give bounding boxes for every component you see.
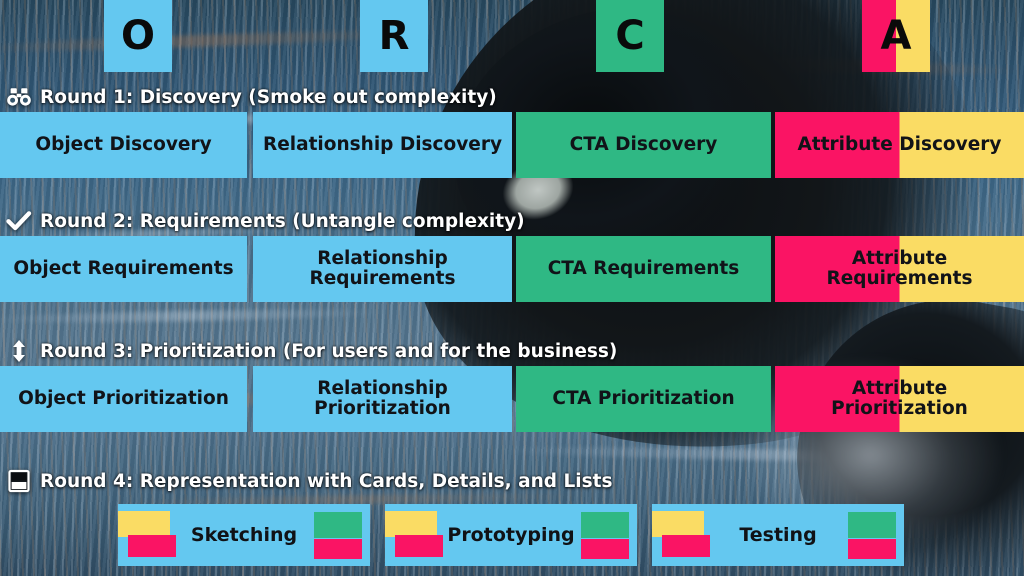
- card-label: Sketching: [178, 524, 310, 546]
- activity-bar[interactable]: Attribute Prioritization: [775, 366, 1024, 432]
- round-header-2: Round 2: Requirements (Untangle complexi…: [0, 206, 1024, 236]
- round-title-4: Round 4: Representation with Cards, Deta…: [40, 471, 612, 492]
- slide-canvas: ORCA Round 1: Discovery (Smoke out compl…: [0, 0, 1024, 576]
- round-bars-2: Object RequirementsRelationship Requirem…: [0, 236, 1024, 302]
- acronym-tile-a: A: [862, 0, 930, 72]
- round-section-3: Round 3: Prioritization (For users and f…: [0, 336, 1024, 432]
- binoculars-icon: [6, 85, 32, 109]
- activity-bar[interactable]: CTA Discovery: [516, 112, 771, 178]
- representation-card[interactable]: Testing: [652, 504, 904, 566]
- activity-bar[interactable]: Relationship Requirements: [253, 236, 512, 302]
- green-pink-swatch-pair-icon: [310, 511, 370, 559]
- yellow-pink-swatch-pair-icon: [652, 511, 712, 559]
- round-bars-3: Object PrioritizationRelationship Priori…: [0, 366, 1024, 432]
- representation-card[interactable]: Prototyping: [385, 504, 637, 566]
- acronym-tile-o: O: [104, 0, 172, 72]
- activity-bar[interactable]: Object Discovery: [0, 112, 247, 178]
- card-label: Testing: [712, 524, 844, 546]
- activity-bar[interactable]: Relationship Prioritization: [253, 366, 512, 432]
- activity-bar[interactable]: Object Requirements: [0, 236, 247, 302]
- representation-card[interactable]: Sketching: [118, 504, 370, 566]
- round-bars-1: Object DiscoveryRelationship DiscoveryCT…: [0, 112, 1024, 178]
- up-down-arrow-icon: [6, 339, 32, 363]
- activity-bar[interactable]: CTA Prioritization: [516, 366, 771, 432]
- round-header-3: Round 3: Prioritization (For users and f…: [0, 336, 1024, 366]
- orca-acronym-row: ORCA: [0, 0, 1024, 72]
- activity-bar[interactable]: CTA Requirements: [516, 236, 771, 302]
- activity-bar[interactable]: Object Prioritization: [0, 366, 247, 432]
- green-pink-swatch-pair-icon: [844, 511, 904, 559]
- round-section-4: Round 4: Representation with Cards, Deta…: [0, 466, 1024, 566]
- round-title-2: Round 2: Requirements (Untangle complexi…: [40, 211, 525, 232]
- round-title-3: Round 3: Prioritization (For users and f…: [40, 341, 617, 362]
- acronym-tile-r: R: [360, 0, 428, 72]
- yellow-pink-swatch-pair-icon: [385, 511, 445, 559]
- round-section-2: Round 2: Requirements (Untangle complexi…: [0, 206, 1024, 302]
- activity-bar[interactable]: Attribute Discovery: [775, 112, 1024, 178]
- card-layout-icon: [6, 469, 32, 493]
- check-icon: [6, 209, 32, 233]
- activity-bar[interactable]: Relationship Discovery: [253, 112, 512, 178]
- green-pink-swatch-pair-icon: [577, 511, 637, 559]
- yellow-pink-swatch-pair-icon: [118, 511, 178, 559]
- round-cards-4: SketchingPrototypingTesting: [0, 504, 1024, 566]
- round-title-1: Round 1: Discovery (Smoke out complexity…: [40, 87, 497, 108]
- round-header-4: Round 4: Representation with Cards, Deta…: [0, 466, 1024, 496]
- round-header-1: Round 1: Discovery (Smoke out complexity…: [0, 82, 1024, 112]
- round-section-1: Round 1: Discovery (Smoke out complexity…: [0, 82, 1024, 178]
- card-label: Prototyping: [445, 524, 577, 546]
- activity-bar[interactable]: Attribute Requirements: [775, 236, 1024, 302]
- acronym-tile-c: C: [596, 0, 664, 72]
